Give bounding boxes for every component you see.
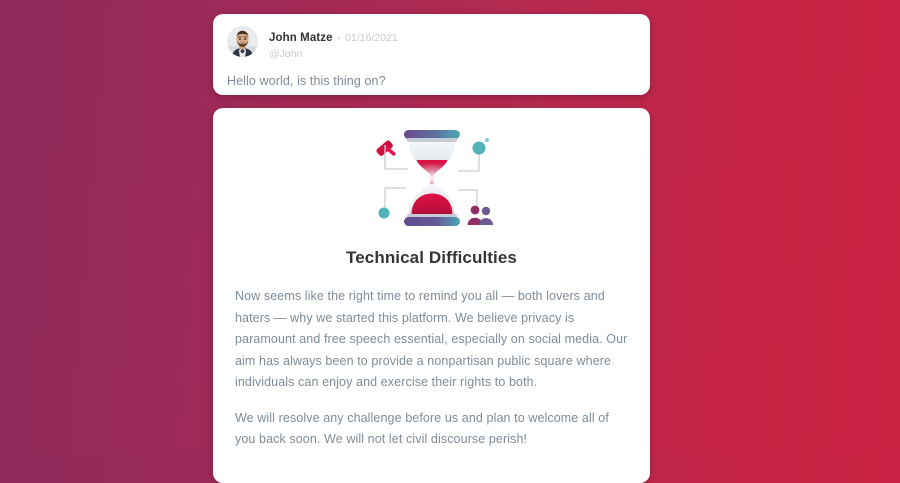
article-paragraph: We will resolve any challenge before us … [235, 408, 628, 451]
post-date: 01/16/2021 [345, 32, 398, 44]
post-author-line: John Matze - 01/16/2021 [269, 27, 398, 47]
article-paragraph: Now seems like the right time to remind … [235, 286, 628, 394]
post-author-name[interactable]: John Matze [269, 32, 333, 44]
teal-dot-upper-right [472, 142, 485, 155]
post-separator: - [337, 32, 341, 44]
article-title: Technical Difficulties [235, 248, 628, 268]
feed-column: John Matze - 01/16/2021 @John Hello worl… [213, 14, 650, 483]
post-text: Hello world, is this thing on? [227, 74, 636, 88]
people-icon [467, 206, 492, 225]
page-root: John Matze - 01/16/2021 @John Hello worl… [0, 0, 900, 453]
post-meta: John Matze - 01/16/2021 @John [269, 26, 398, 62]
gavel-icon [375, 139, 396, 156]
avatar[interactable] [227, 26, 258, 57]
post-handle[interactable]: @John [269, 48, 398, 61]
article-card[interactable]: Technical Difficulties Now seems like th… [213, 108, 650, 483]
post-card[interactable]: John Matze - 01/16/2021 @John Hello worl… [213, 14, 650, 95]
teal-dot-lower-left [378, 208, 389, 219]
hourglass-illustration [235, 126, 628, 231]
hourglass [404, 130, 460, 226]
post-header: John Matze - 01/16/2021 @John [227, 26, 636, 62]
